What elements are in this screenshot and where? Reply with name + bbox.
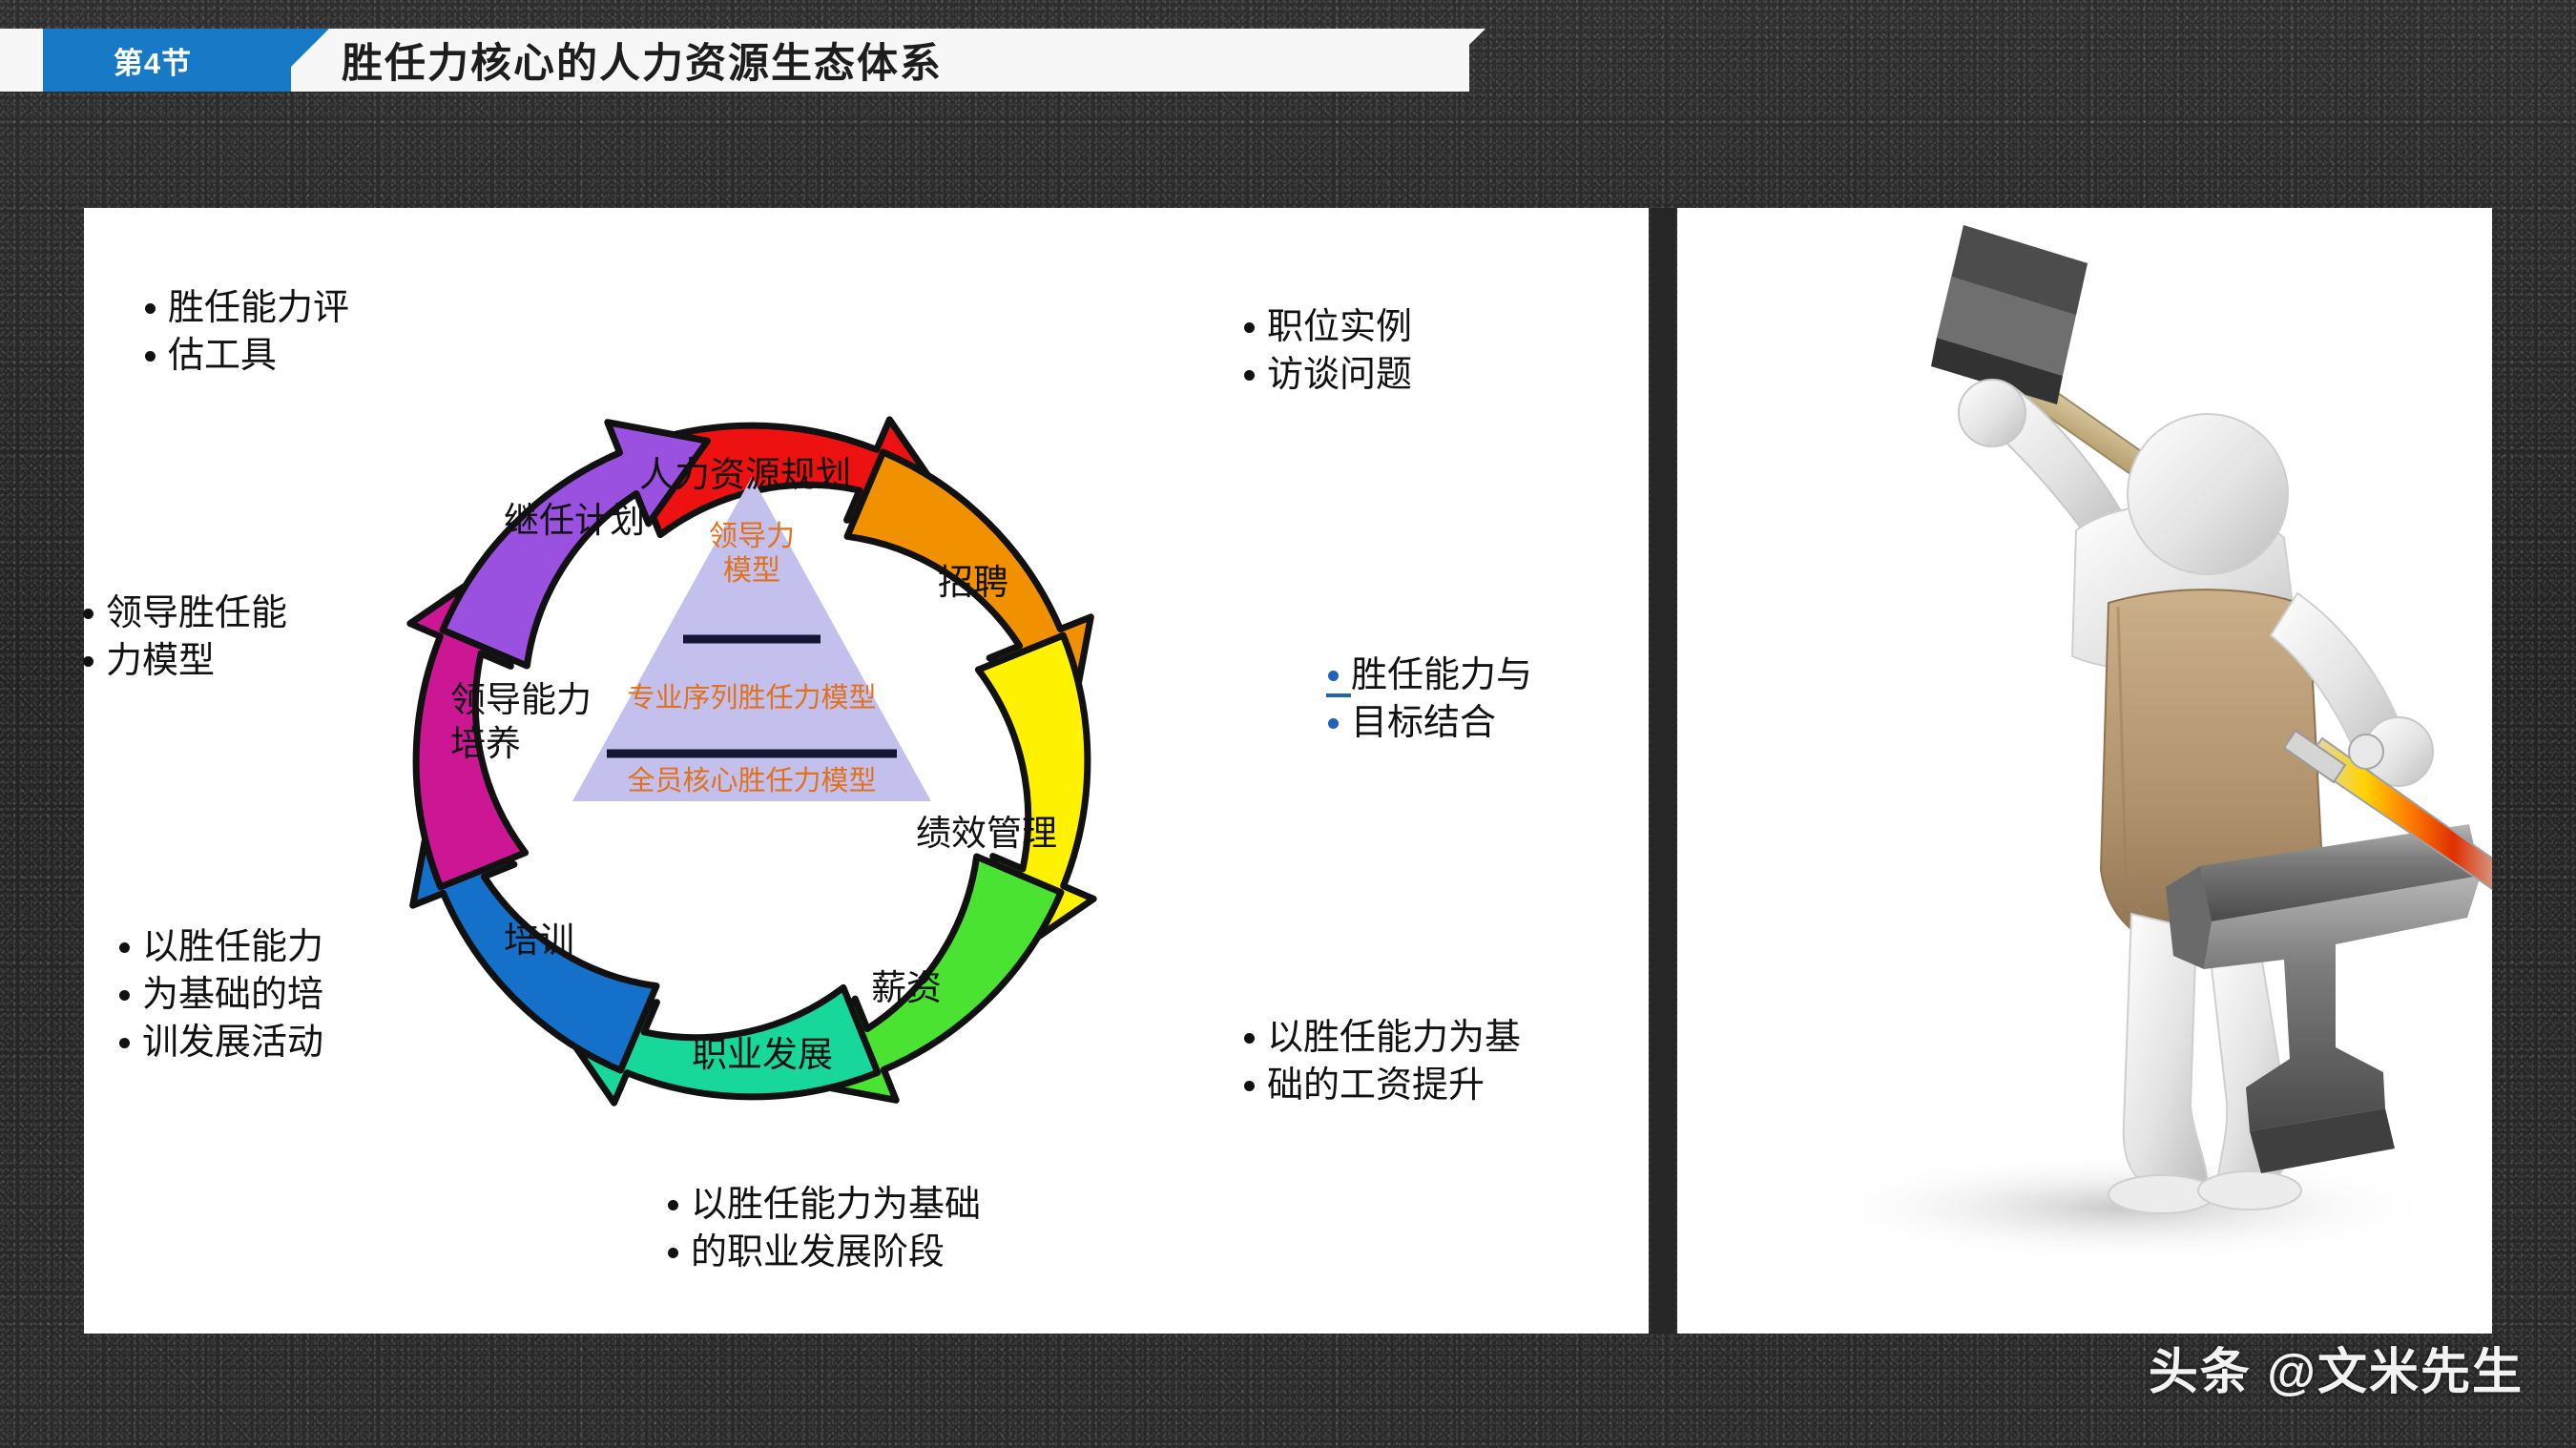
list-item: 职位实例: [1240, 303, 1412, 351]
callout-recruiting: 职位实例 访谈问题: [1240, 303, 1412, 399]
triangle-tier-top-line1: 领导力: [709, 521, 795, 552]
list-item: 胜任能力与: [1324, 652, 1532, 699]
list-item: 访谈问题: [1240, 351, 1412, 399]
list-item: 估工具: [141, 332, 349, 380]
triangle-tier-top-line2: 模型: [723, 555, 780, 587]
segment-label-training: 培训: [504, 921, 574, 961]
callout-salary: 以胜任能力为基 础的工资提升: [1240, 1014, 1521, 1109]
head: [2128, 414, 2288, 574]
list-item: 领导胜任能: [79, 590, 287, 637]
triangle-tier-middle: 专业序列胜任力模型: [627, 682, 876, 714]
blacksmith-illustration: [1677, 208, 2492, 1334]
list-item: 力模型: [79, 637, 287, 685]
page-title: 胜任力核心的人力资源生态体系: [342, 29, 943, 92]
segment-label-leadership-line2: 培养: [450, 724, 521, 764]
segment-label-recruiting: 招聘: [938, 564, 1008, 603]
slide-background: 第4节 胜任力核心的人力资源生态体系: [0, 0, 2576, 1448]
hand-left: [1959, 380, 2025, 446]
segment-label-salary: 薪资: [871, 969, 942, 1008]
section-number-label: 第4节: [43, 29, 262, 92]
callout-performance: 胜任能力与 目标结合: [1324, 652, 1532, 747]
callout-training-activity: 以胜任能力 为基础的培 训发展活动: [115, 923, 323, 1066]
segment-label-performance: 绩效管理: [916, 814, 1057, 854]
callout-succession-tools: 胜任能力评 估工具: [141, 284, 349, 380]
list-item: 为基础的培: [115, 971, 323, 1019]
list-item: 以胜任能力为基础: [664, 1181, 981, 1229]
list-item: 以胜任能力为基: [1240, 1014, 1521, 1062]
list-item: 训发展活动: [115, 1019, 323, 1066]
list-item: 以胜任能力: [115, 923, 323, 971]
slide-header: 第4节 胜任力核心的人力资源生态体系: [0, 29, 2576, 92]
hr-cycle-diagram: 领导力 模型 专业序列胜任力模型 全员核心胜任力模型 人力资源规划 招聘 绩效管…: [84, 208, 1649, 1334]
callout-career-stage: 以胜任能力为基础 的职业发展阶段: [664, 1181, 981, 1276]
segment-label-leadership: 领导能力: [450, 680, 592, 720]
triangle-tier-bottom: 全员核心胜任力模型: [627, 765, 876, 796]
list-item: 胜任能力评: [141, 284, 349, 332]
panel-divider: [1651, 208, 1675, 1334]
segment-label-succession: 继任计划: [504, 501, 645, 541]
callout-leadership-model: 领导胜任能 力模型: [79, 590, 287, 685]
segment-label-career: 职业发展: [692, 1035, 833, 1075]
list-item: 的职业发展阶段: [664, 1229, 981, 1276]
list-item: 目标结合: [1324, 699, 1532, 747]
segment-label-hr-planning: 人力资源规划: [639, 456, 851, 495]
list-item: 础的工资提升: [1240, 1062, 1521, 1109]
watermark-text: 头条 @文米先生: [2149, 1332, 2524, 1403]
